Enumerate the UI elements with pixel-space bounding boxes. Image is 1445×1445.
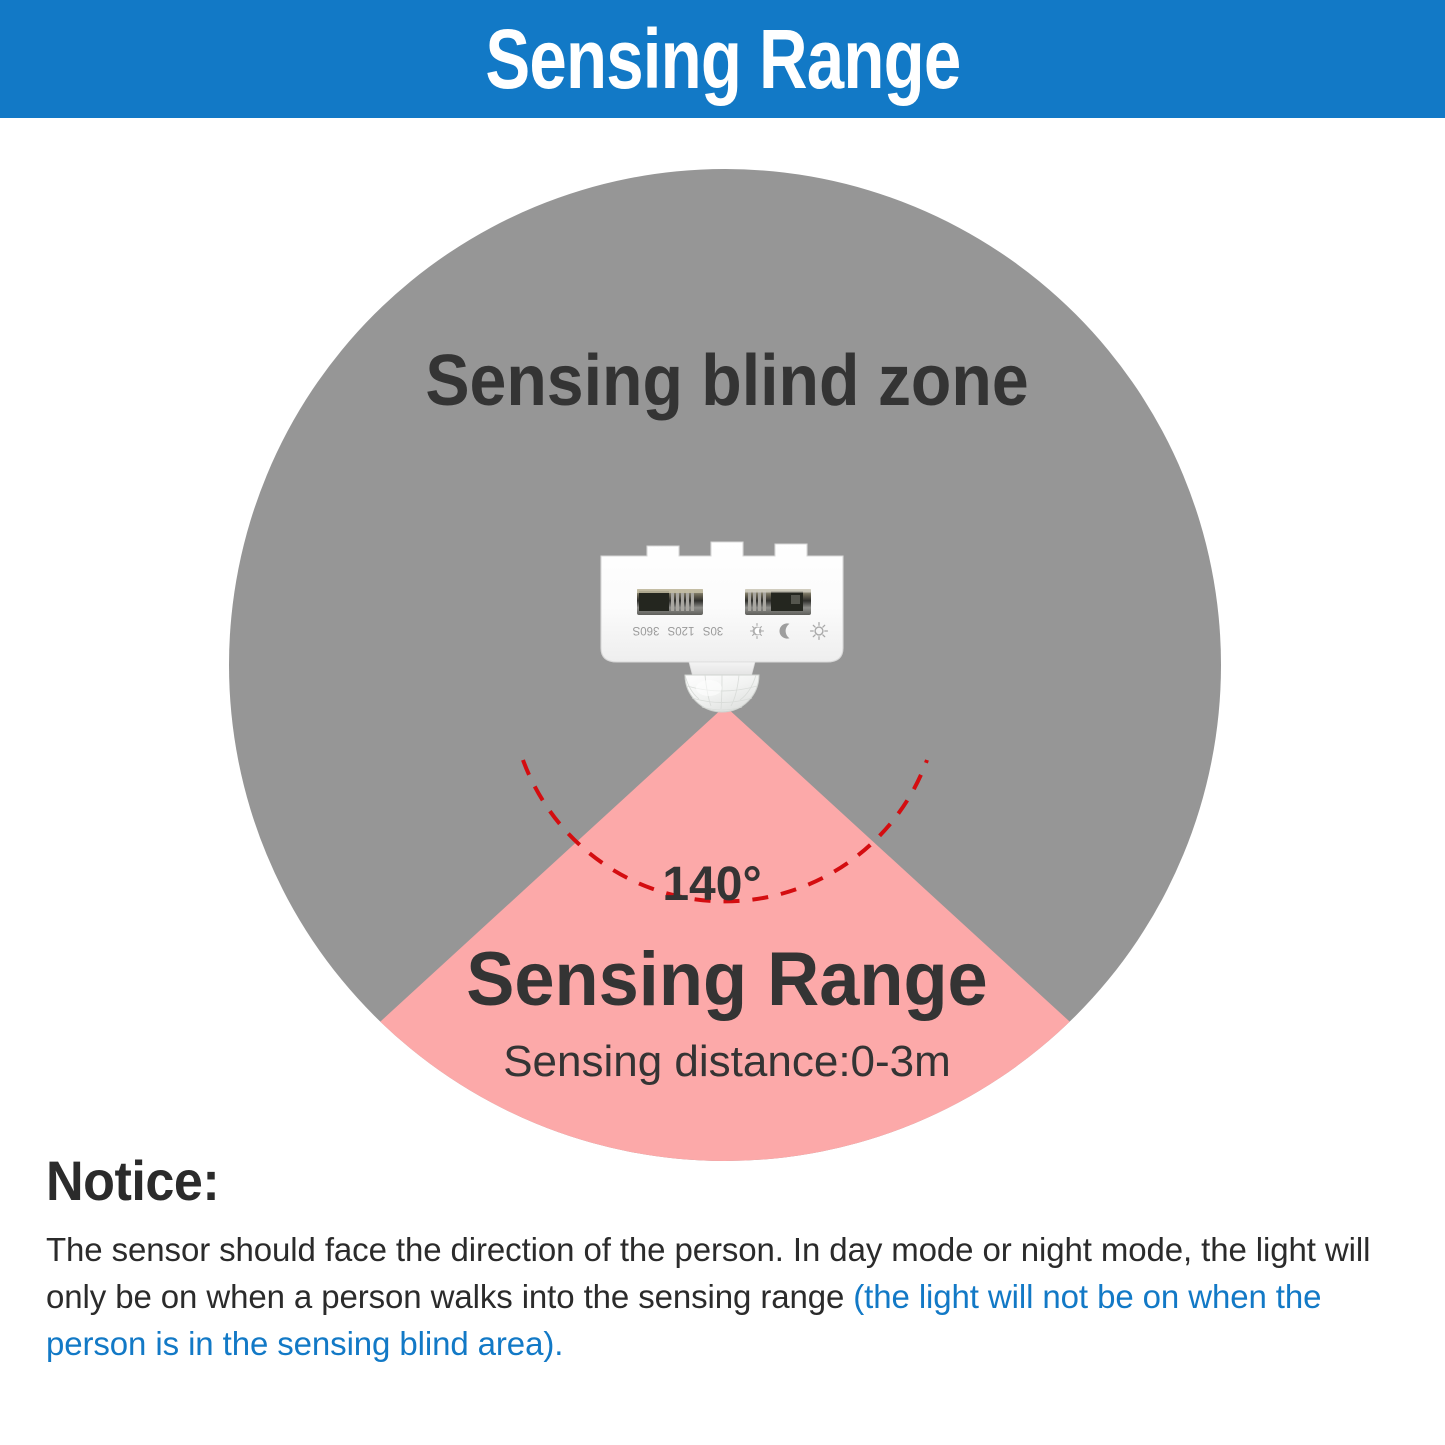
notice-body: The sensor should face the direction of … — [46, 1227, 1396, 1368]
angle-label: 140° — [662, 858, 761, 911]
notice-section: Notice: The sensor should face the direc… — [46, 1152, 1406, 1367]
svg-text:30S: 30S — [702, 624, 723, 636]
svg-text:360S: 360S — [632, 624, 659, 636]
header-banner: Sensing Range — [0, 0, 1445, 118]
sensor-time-labels: 360S 120S 30S — [632, 624, 723, 636]
sensor-terminal-right — [745, 589, 811, 615]
pir-motion-sensor: 360S 120S 30S — [593, 536, 851, 736]
svg-text:120S: 120S — [667, 624, 694, 636]
blind-zone-label: Sensing blind zone — [425, 339, 1028, 420]
sensor-terminal-left — [637, 589, 703, 615]
sensing-range-diagram: Sensing blind zone 140° Sensing Range Se… — [0, 118, 1445, 1168]
page-title: Sensing Range — [485, 17, 960, 101]
notice-heading: Notice: — [46, 1152, 1311, 1211]
pir-dome — [685, 675, 759, 712]
sensing-distance-label: Sensing distance:0-3m — [503, 1037, 951, 1086]
sensing-range-label: Sensing Range — [466, 936, 987, 1021]
